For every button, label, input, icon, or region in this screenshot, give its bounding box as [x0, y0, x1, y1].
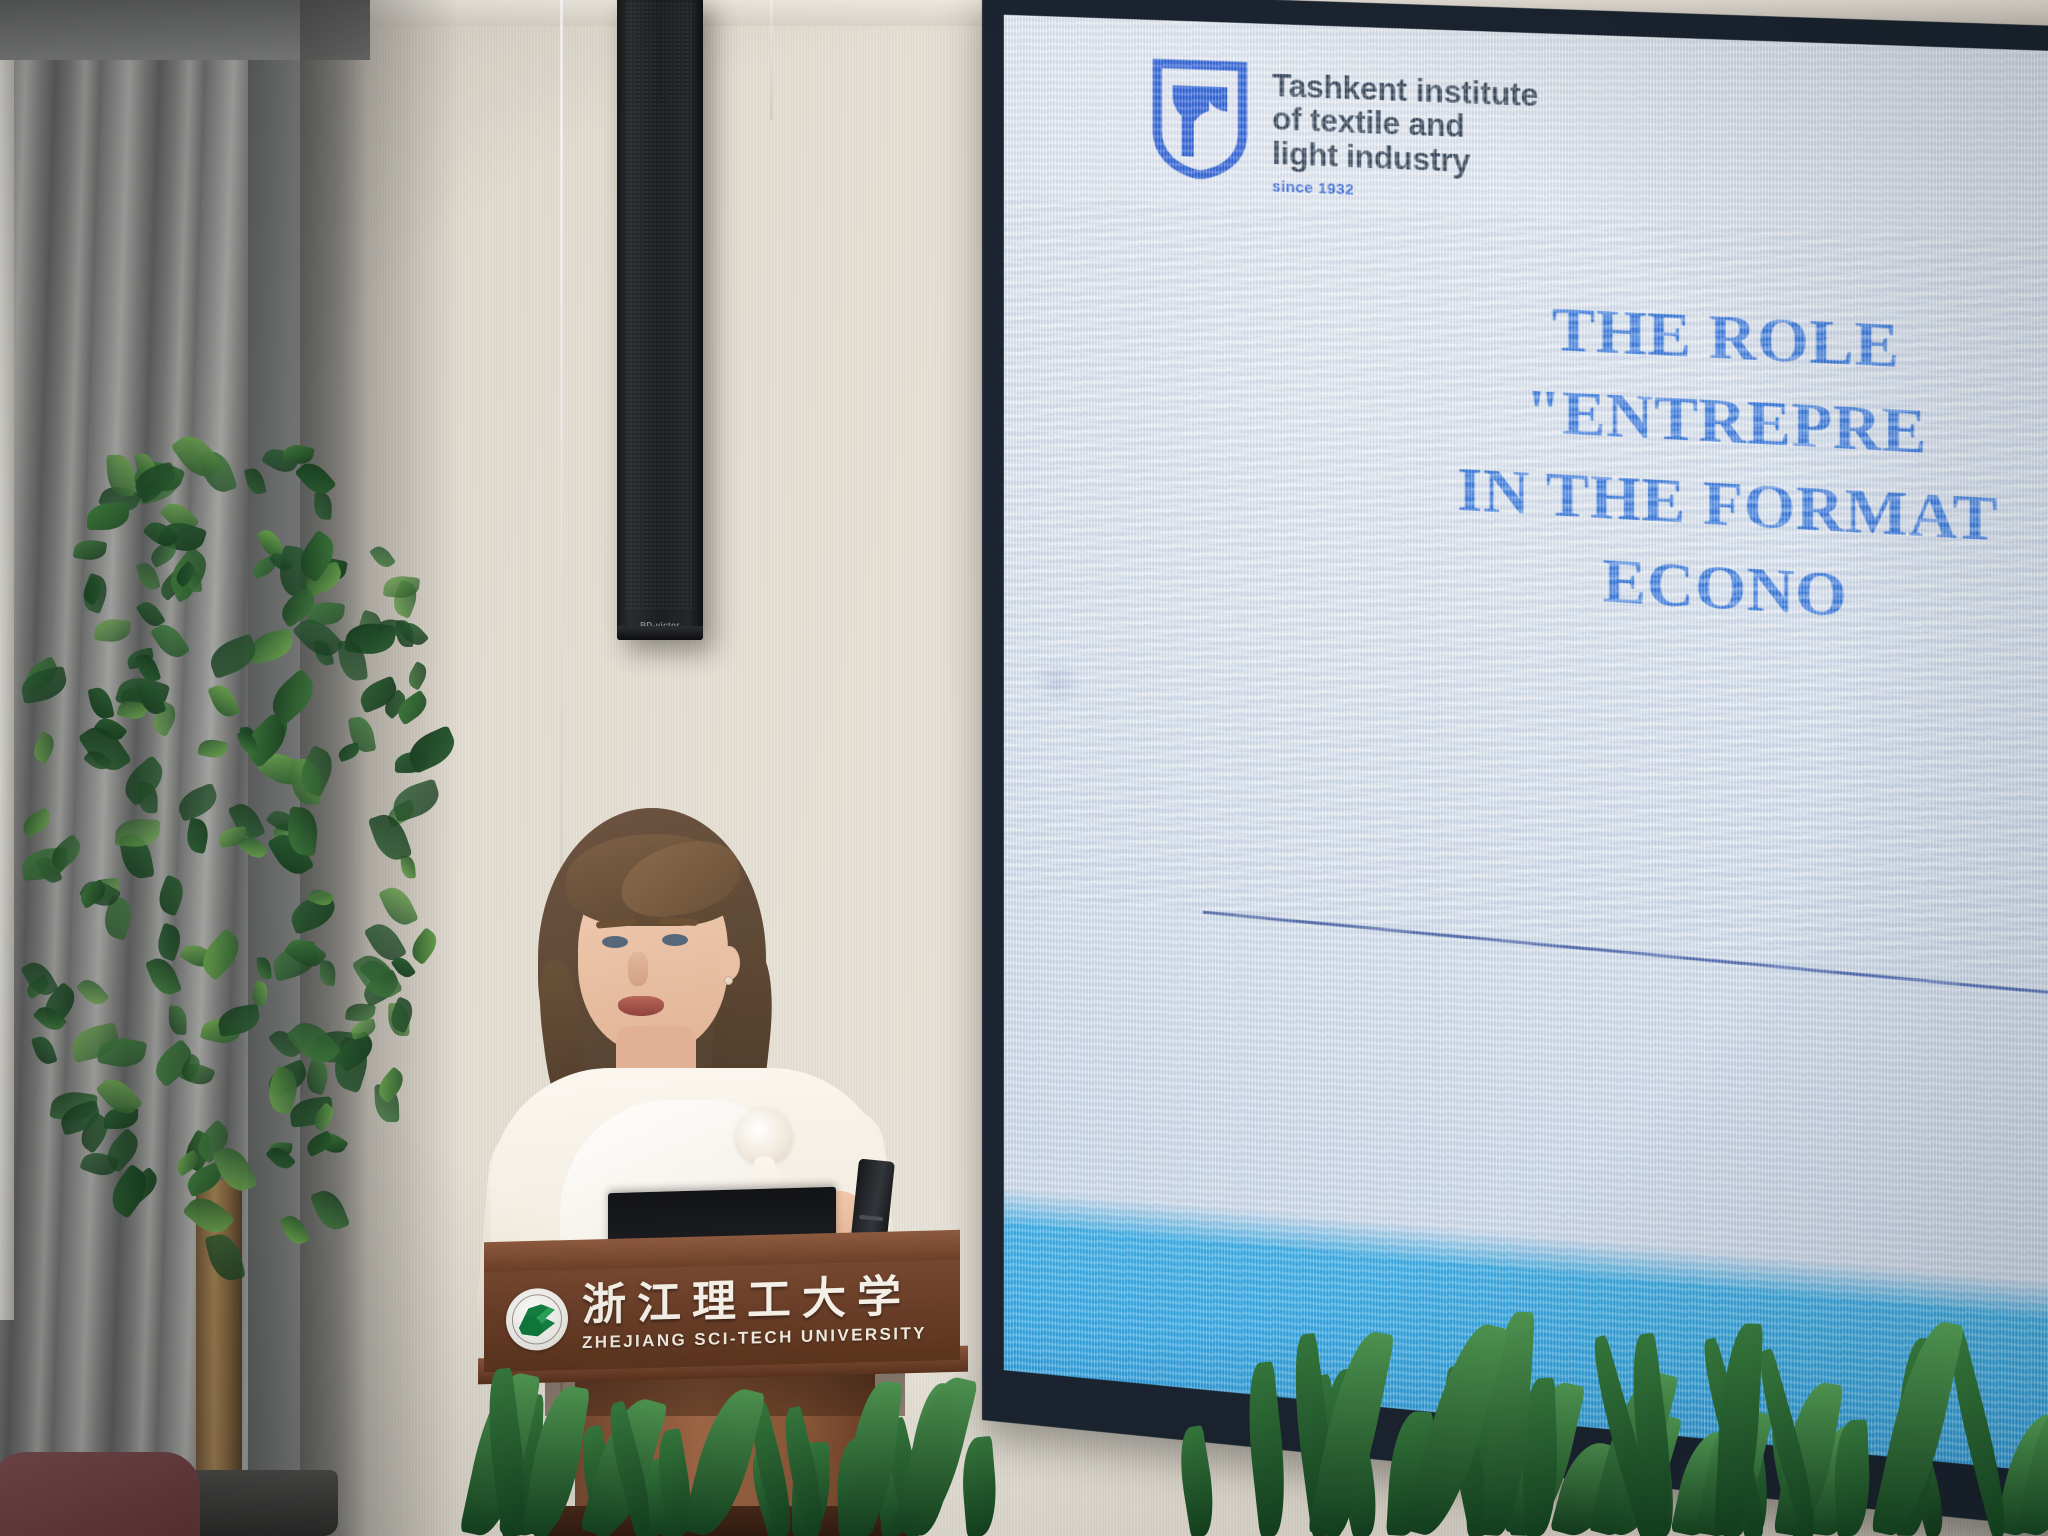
zstu-text-block: 浙江理工大学 ZHEJIANG SCI-TECH UNIVERSITY [582, 1274, 927, 1353]
zstu-crest-icon [506, 1288, 568, 1352]
presentation-slide[interactable]: Tashkent institute of textile and light … [1004, 15, 2048, 1479]
ficus-leaf [18, 666, 69, 704]
ficus-leaf [216, 1004, 262, 1038]
ficus-leaf [115, 818, 160, 848]
ficus-leaf [211, 1141, 258, 1197]
projection-screen-assembly: Tashkent institute of textile and light … [982, 0, 2048, 1533]
lily-leaf [1173, 1425, 1219, 1536]
ficus-leaf [310, 1186, 350, 1235]
ficus-leaf [256, 957, 271, 980]
ficus-tree [0, 400, 460, 1420]
armchair [0, 1452, 200, 1536]
column-speaker: BD-victor [617, 0, 703, 640]
ficus-leaf [279, 1212, 310, 1249]
podium-university-branding: 浙江理工大学 ZHEJIANG SCI-TECH UNIVERSITY [506, 1262, 956, 1367]
ficus-leaf [406, 927, 442, 965]
ficus-leaf [319, 960, 337, 986]
ficus-leaf [94, 617, 132, 643]
ficus-leaf [378, 882, 419, 930]
ficus-leaf [404, 661, 430, 690]
slide-ghost-circle [1032, 657, 1084, 707]
ficus-leaf [19, 808, 54, 839]
peace-lily-behind-podium [430, 1356, 990, 1536]
ficus-leaf [76, 975, 109, 1010]
ficus-leaf [303, 1059, 332, 1096]
conference-room-photo: BD-victor Tashkent institute of textile … [0, 0, 2048, 1536]
mouth [618, 996, 664, 1016]
peace-lily-row [1180, 1306, 2048, 1536]
microphone-grille [859, 1215, 883, 1221]
eye-left [602, 936, 628, 948]
ficus-leaf [87, 503, 129, 530]
ficus-leaf [206, 633, 262, 679]
institute-since-label: since 1932 [1272, 178, 1538, 207]
slide-divider-line [1203, 911, 2048, 1004]
ficus-leaf [168, 1006, 187, 1035]
ficus-leaf [182, 1190, 235, 1241]
ficus-leaf [337, 741, 362, 762]
speaker-grill-mesh [625, 2, 695, 610]
ficus-leaf [401, 856, 417, 880]
speaker-base [617, 626, 703, 640]
institute-logo-text: Tashkent institute of textile and light … [1272, 63, 1538, 207]
ficus-leaf [73, 538, 107, 563]
ficus-leaf [30, 731, 59, 764]
ficus-leaf [198, 737, 229, 760]
ficus-leaf [154, 874, 189, 916]
ficus-leaf [184, 818, 212, 855]
ear [718, 946, 740, 980]
ficus-leaf [313, 492, 332, 520]
ficus-leaf [244, 466, 267, 496]
nose [628, 952, 648, 986]
ficus-leaf [205, 1230, 247, 1285]
eye-right [662, 934, 688, 946]
ficus-leaf [369, 542, 396, 571]
earring [724, 976, 733, 985]
university-name-cn: 浙江理工大学 [582, 1274, 927, 1328]
ficus-leaf [388, 778, 443, 822]
ficus-leaf [31, 1034, 57, 1067]
institute-logo: Tashkent institute of textile and light … [1152, 58, 1538, 207]
t-shield-icon [1152, 58, 1247, 181]
zstu-swoosh-mark [519, 1304, 555, 1337]
ficus-leaf [349, 1018, 377, 1040]
ficus-leaf [145, 953, 182, 998]
ficus-leaf [88, 685, 115, 721]
ficus-leaf [173, 782, 221, 822]
ficus-leaf [249, 980, 270, 1007]
ficus-leaf [208, 681, 241, 721]
wall-seam-2 [770, 0, 773, 120]
slide-title: THE ROLE "ENTREPRE IN THE FORMAT ECONO [1124, 269, 2048, 669]
lily-leaf [1241, 1361, 1291, 1536]
